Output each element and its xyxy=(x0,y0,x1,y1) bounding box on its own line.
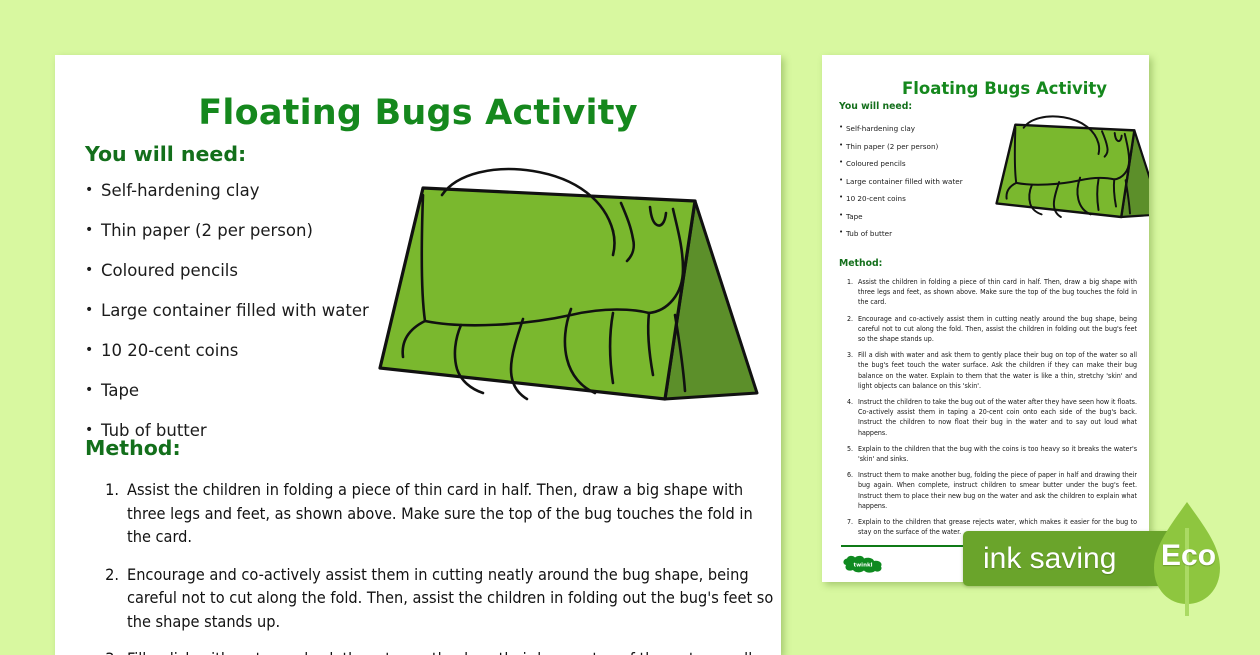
method-step: 1. Assist the children in folding a piec… xyxy=(99,478,774,549)
method-step: 3. Fill a dish with water and ask them t… xyxy=(844,350,1137,391)
materials-heading: You will need: xyxy=(85,142,246,166)
step-text: Explain to the children that the bug wit… xyxy=(858,444,1137,463)
step-number: 5. xyxy=(844,444,853,454)
step-text: Encourage and co-actively assist them in… xyxy=(127,565,773,631)
thumbnail-page-preview[interactable]: Floating Bugs Activity You will need: Se… xyxy=(822,55,1149,582)
list-item: Thin paper (2 per person) xyxy=(839,143,989,150)
list-item: 10 20-cent coins xyxy=(839,195,989,202)
step-text: Fill a dish with water and ask them to g… xyxy=(858,350,1137,390)
svg-text:twinkl: twinkl xyxy=(853,563,872,569)
method-step: 5. Explain to the children that the bug … xyxy=(844,444,1137,464)
ink-saving-label: ink saving xyxy=(983,542,1116,576)
step-number: 3. xyxy=(844,350,853,360)
step-number: 1. xyxy=(99,478,119,502)
eco-label: Eco xyxy=(1161,539,1216,573)
screenshot-stage: Floating Bugs Activity You will need: Se… xyxy=(0,0,1260,630)
step-number: 3. xyxy=(99,647,119,655)
list-item: Tub of butter xyxy=(839,230,989,237)
step-number: 7. xyxy=(844,517,853,527)
method-steps-list: 1. Assist the children in folding a piec… xyxy=(99,478,774,655)
list-item: Large container filled with water xyxy=(839,178,989,185)
method-step: 6. Instruct them to make another bug, fo… xyxy=(844,470,1137,511)
folded-bug-card-illustration xyxy=(365,143,765,463)
thumbnail-page-title: Floating Bugs Activity xyxy=(822,79,1149,98)
step-number: 4. xyxy=(844,397,853,407)
page-title: Floating Bugs Activity xyxy=(55,93,781,133)
step-number: 2. xyxy=(844,314,853,324)
method-heading: Method: xyxy=(85,436,181,460)
method-step: 4. Instruct the children to take the bug… xyxy=(844,397,1137,438)
step-text: Fill a dish with water and ask them to g… xyxy=(127,649,752,655)
thumbnail-method-heading: Method: xyxy=(839,258,882,269)
thumbnail-method-steps-list: 1. Assist the children in folding a piec… xyxy=(844,277,1137,543)
method-step: 1. Assist the children in folding a piec… xyxy=(844,277,1137,308)
thumbnail-materials-list: Self-hardening clay Thin paper (2 per pe… xyxy=(839,125,989,248)
step-text: Instruct them to make another bug, foldi… xyxy=(858,470,1137,510)
twinkl-logo-icon: twinkl xyxy=(841,554,885,574)
step-text: Assist the children in folding a piece o… xyxy=(127,480,753,546)
step-number: 2. xyxy=(99,563,119,587)
thumbnail-materials-heading: You will need: xyxy=(839,101,912,112)
main-page-content: Floating Bugs Activity You will need: Se… xyxy=(55,55,781,655)
step-text: Instruct the children to take the bug ou… xyxy=(858,397,1137,437)
list-item: Coloured pencils xyxy=(839,160,989,167)
step-number: 1. xyxy=(844,277,853,287)
method-step: 2. Encourage and co-actively assist them… xyxy=(844,314,1137,345)
method-step: 3. Fill a dish with water and ask them t… xyxy=(99,647,774,655)
list-item: Self-hardening clay xyxy=(839,125,989,132)
list-item: Tape xyxy=(839,213,989,220)
step-text: Encourage and co-actively assist them in… xyxy=(858,314,1137,343)
step-text: Assist the children in folding a piece o… xyxy=(858,277,1137,306)
thumbnail-folded-bug-card-illustration xyxy=(990,105,1149,245)
method-step: 2. Encourage and co-actively assist them… xyxy=(99,563,774,634)
step-number: 6. xyxy=(844,470,853,480)
main-page-preview[interactable]: Floating Bugs Activity You will need: Se… xyxy=(55,55,781,655)
